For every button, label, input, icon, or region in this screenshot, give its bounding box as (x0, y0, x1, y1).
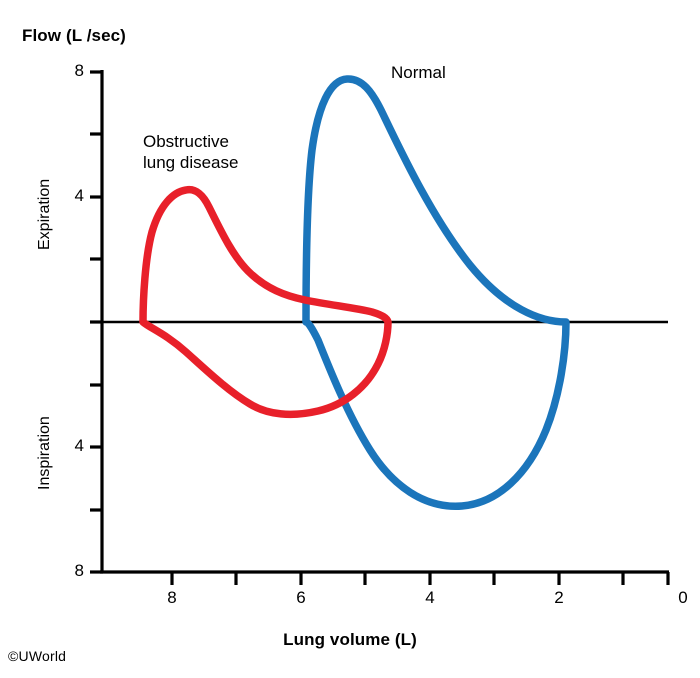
plot-canvas (0, 0, 700, 678)
curve-normal-loop (306, 79, 566, 506)
flow-volume-loop-figure: Flow (L /sec) Expiration Inspiration 8 4… (0, 0, 700, 678)
curve-obstructive-loop (143, 190, 388, 415)
x-axis-ticks (172, 572, 668, 585)
